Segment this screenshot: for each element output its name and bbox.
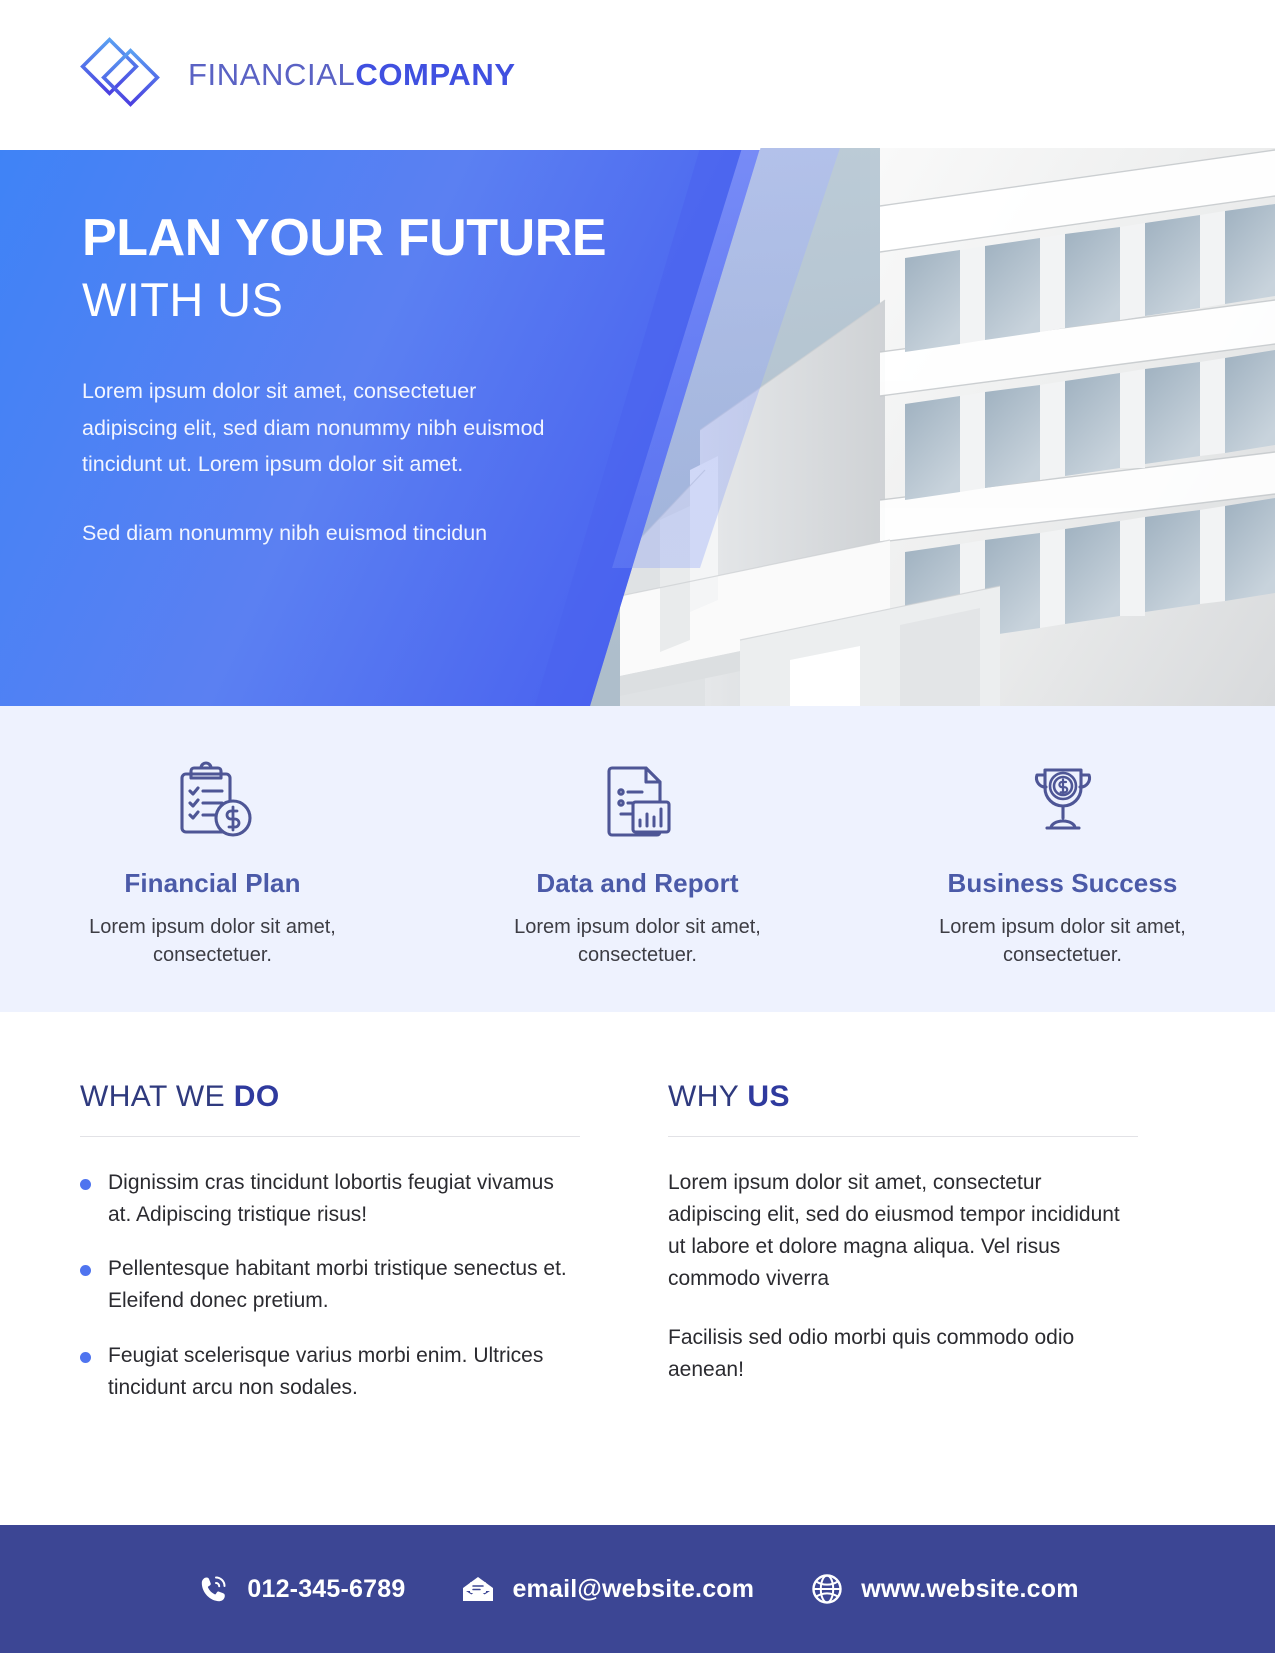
double-diamond-logo-icon	[80, 37, 166, 111]
service-title: Data and Report	[536, 868, 738, 899]
page-header: FINANCIALCOMPANY	[0, 0, 1275, 148]
flyer-page: PLAN YOUR FUTURE WITH US Lorem ipsum dol…	[0, 0, 1275, 1653]
list-item: Feugiat scelerisque varius morbi enim. U…	[80, 1340, 580, 1404]
contact-text: email@website.com	[512, 1575, 754, 1604]
heading-divider	[668, 1136, 1138, 1137]
services-band: Financial Plan Lorem ipsum dolor sit ame…	[0, 706, 1275, 1012]
brand-name-bold: COMPANY	[355, 57, 515, 92]
why-us-heading: WHY US	[668, 1080, 1138, 1114]
service-description: Lorem ipsum dolor sit amet, consectetuer…	[78, 913, 348, 970]
bullet-text: Pellentesque habitant morbi tristique se…	[108, 1253, 580, 1317]
heading-bold: US	[747, 1080, 789, 1113]
globe-icon	[810, 1572, 844, 1606]
why-us-paragraph: Lorem ipsum dolor sit amet, consectetur …	[668, 1167, 1138, 1296]
what-we-do-column: WHAT WE DO Dignissim cras tincidunt lobo…	[80, 1080, 580, 1525]
trophy-dollar-icon	[1020, 758, 1106, 842]
contact-phone[interactable]: 012-345-6789	[196, 1572, 405, 1606]
hero-paragraph-1: Lorem ipsum dolor sit amet, consectetuer…	[82, 373, 562, 484]
hero-title-line-1: PLAN YOUR FUTURE	[82, 210, 660, 266]
list-item: Dignissim cras tincidunt lobortis feugia…	[80, 1167, 580, 1231]
service-title: Business Success	[948, 868, 1178, 899]
service-card-data-and-report[interactable]: Data and Report Lorem ipsum dolor sit am…	[425, 706, 850, 1012]
hero-content: PLAN YOUR FUTURE WITH US Lorem ipsum dol…	[0, 148, 660, 706]
bullet-dot-icon	[80, 1179, 91, 1190]
content-columns: WHAT WE DO Dignissim cras tincidunt lobo…	[0, 1012, 1275, 1525]
contact-text: 012-345-6789	[247, 1575, 405, 1604]
brand-name: FINANCIALCOMPANY	[188, 59, 516, 90]
service-description: Lorem ipsum dolor sit amet, consectetuer…	[503, 913, 773, 970]
list-item: Pellentesque habitant morbi tristique se…	[80, 1253, 580, 1317]
service-card-financial-plan[interactable]: Financial Plan Lorem ipsum dolor sit ame…	[0, 706, 425, 1012]
bullet-dot-icon	[80, 1352, 91, 1363]
phone-icon	[196, 1572, 230, 1606]
what-we-do-bullet-list: Dignissim cras tincidunt lobortis feugia…	[80, 1167, 580, 1404]
envelope-icon	[461, 1572, 495, 1606]
hero-title-line-2: WITH US	[82, 272, 660, 328]
heading-divider	[80, 1136, 580, 1137]
contact-website[interactable]: www.website.com	[810, 1572, 1078, 1606]
document-bar-chart-icon	[595, 758, 681, 842]
heading-thin: WHAT WE	[80, 1080, 234, 1113]
hero-section: PLAN YOUR FUTURE WITH US Lorem ipsum dol…	[0, 148, 1275, 706]
service-title: Financial Plan	[124, 868, 300, 899]
why-us-paragraph: Facilisis sed odio morbi quis commodo od…	[668, 1322, 1138, 1386]
bullet-dot-icon	[80, 1265, 91, 1276]
brand-logo[interactable]: FINANCIALCOMPANY	[80, 37, 516, 111]
clipboard-checklist-dollar-icon	[170, 758, 256, 842]
why-us-column: WHY US Lorem ipsum dolor sit amet, conse…	[658, 1080, 1138, 1525]
heading-bold: DO	[234, 1080, 280, 1113]
service-card-business-success[interactable]: Business Success Lorem ipsum dolor sit a…	[850, 706, 1275, 1012]
bullet-text: Dignissim cras tincidunt lobortis feugia…	[108, 1167, 580, 1231]
hero-paragraph-2: Sed diam nonummy nibh euismod tincidun	[82, 515, 532, 552]
what-we-do-heading: WHAT WE DO	[80, 1080, 580, 1114]
contact-email[interactable]: email@website.com	[461, 1572, 754, 1606]
bullet-text: Feugiat scelerisque varius morbi enim. U…	[108, 1340, 580, 1404]
contact-text: www.website.com	[861, 1575, 1078, 1604]
service-description: Lorem ipsum dolor sit amet, consectetuer…	[928, 913, 1198, 970]
brand-name-thin: FINANCIAL	[188, 57, 355, 92]
heading-thin: WHY	[668, 1080, 747, 1113]
contact-footer: 012-345-6789 email@website.com	[0, 1525, 1275, 1653]
